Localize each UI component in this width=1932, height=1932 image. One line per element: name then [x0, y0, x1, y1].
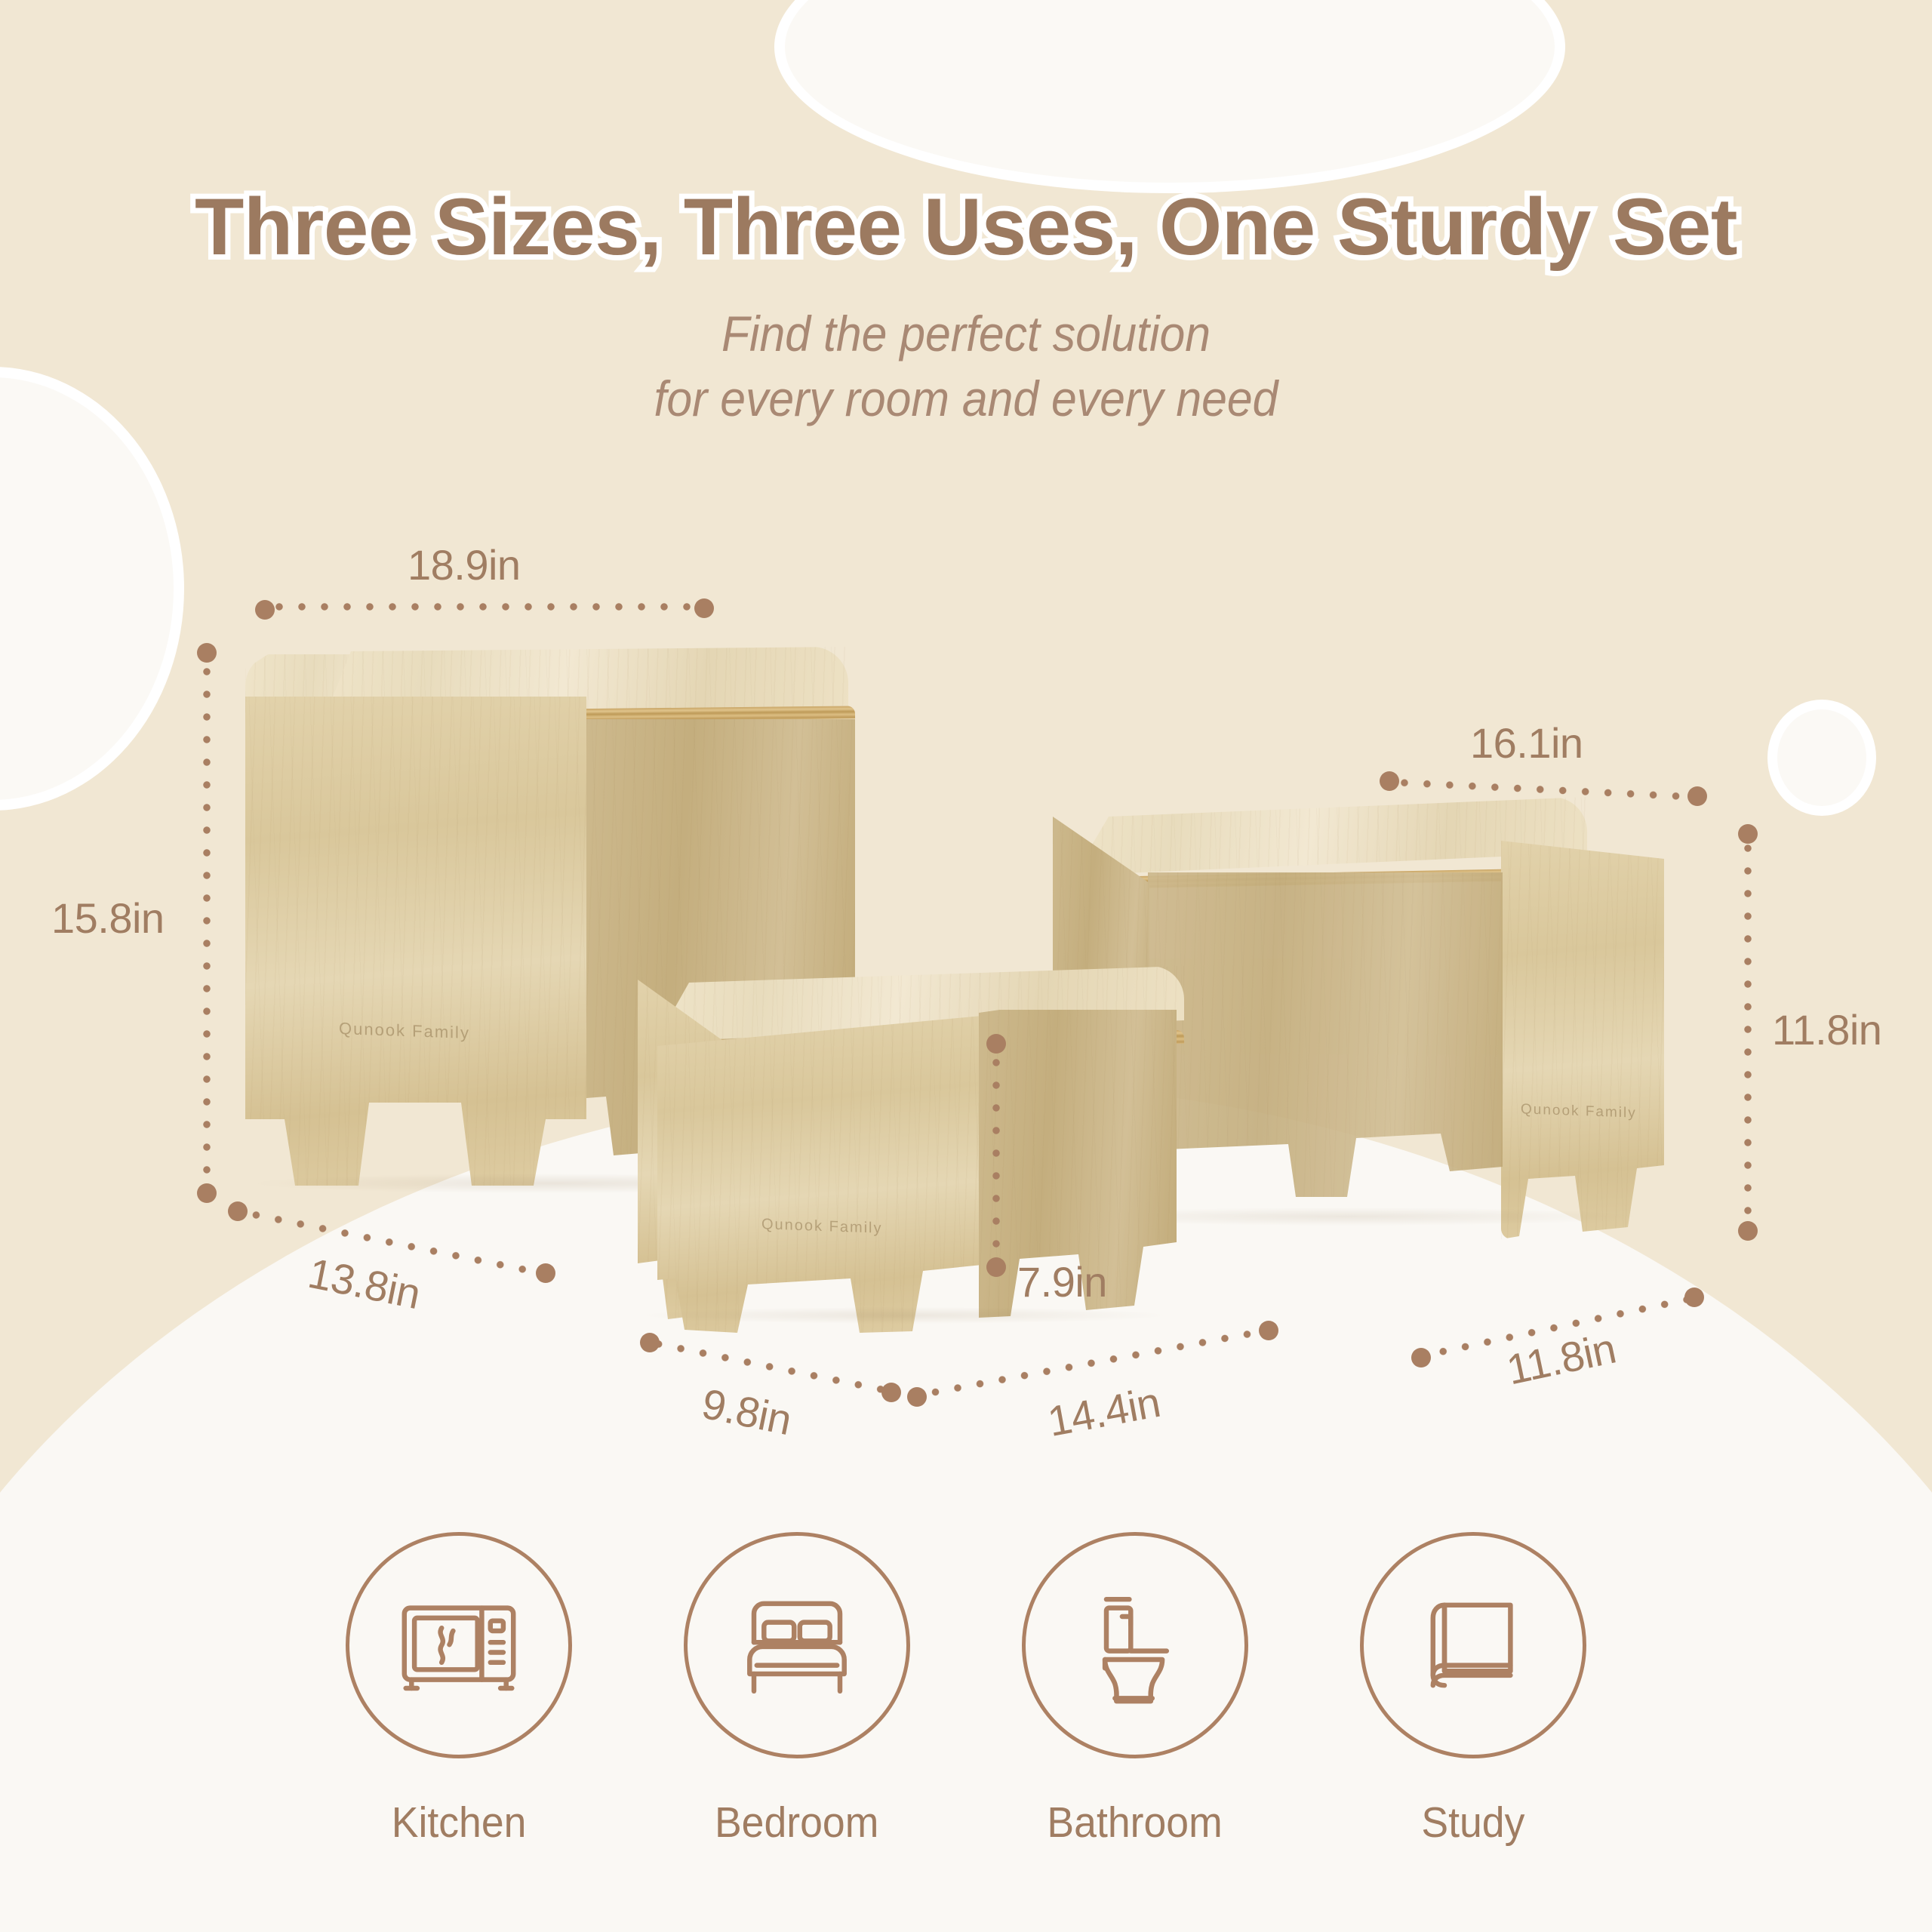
header: Three Sizes, Three Uses, One Sturdy Set …: [0, 0, 1932, 432]
microwave-icon: [387, 1574, 531, 1717]
dimcap-stool-height-start: [986, 1034, 1006, 1054]
brand-engraving: Qunook Family: [1521, 1101, 1637, 1121]
usecase-row: Kitchen Bedroom: [0, 1532, 1932, 1847]
medium-table-right-panel: Qunook Family: [1501, 841, 1664, 1239]
dimcap-medium-width-start: [1380, 771, 1399, 791]
usecase-kitchen-circle: [346, 1532, 572, 1758]
dimcap-large-width-end: [694, 598, 714, 618]
infographic-canvas: Three Sizes, Three Uses, One Sturdy Set …: [0, 0, 1932, 1932]
usecase-bathroom-label: Bathroom: [1048, 1798, 1223, 1847]
usecase-bedroom-circle: [684, 1532, 910, 1758]
dimension-large-height: 15.8in: [51, 894, 165, 943]
dimline-large-height: [201, 649, 213, 1192]
decor-circle-right: [1777, 709, 1866, 806]
small-stool-front-panel: Qunook Family: [657, 1016, 982, 1333]
brand-engraving: Qunook Family: [761, 1216, 883, 1238]
dimline-medium-height: [1742, 830, 1754, 1229]
dimcap-medium-depth-end: [1684, 1287, 1704, 1307]
usecase-bathroom[interactable]: Bathroom: [1022, 1532, 1248, 1847]
dimline-large-width: [260, 601, 706, 613]
dimcap-large-width-start: [255, 600, 275, 620]
dimcap-medium-depth-start: [1411, 1348, 1431, 1367]
usecase-study[interactable]: Study: [1360, 1532, 1586, 1847]
usecase-bedroom-label: Bedroom: [715, 1798, 878, 1847]
bed-icon: [725, 1574, 869, 1717]
dimcap-stool-width-start: [640, 1333, 660, 1352]
book-icon: [1401, 1574, 1545, 1717]
usecase-study-label: Study: [1421, 1798, 1524, 1847]
toilet-icon: [1063, 1574, 1207, 1717]
dimcap-large-depth-end: [536, 1263, 555, 1283]
small-stool-shadow: [644, 1307, 1164, 1324]
usecase-kitchen[interactable]: Kitchen: [346, 1532, 572, 1847]
dimcap-stool-height-end: [986, 1257, 1006, 1277]
product-small-stool: Qunook Family: [638, 966, 1264, 1366]
usecase-bathroom-circle: [1022, 1532, 1248, 1758]
dimcap-large-height-end: [197, 1183, 217, 1203]
usecase-study-circle: [1360, 1532, 1586, 1758]
subtitle-line-1: Find the perfect solution: [77, 302, 1854, 367]
usecase-bedroom[interactable]: Bedroom: [684, 1532, 910, 1847]
page-subtitle: Find the perfect solution for every room…: [77, 302, 1854, 432]
usecase-kitchen-label: Kitchen: [392, 1798, 527, 1847]
dimcap-medium-height-start: [1738, 824, 1758, 844]
dimension-large-width: 18.9in: [408, 540, 521, 589]
brand-engraving: Qunook Family: [339, 1019, 470, 1043]
dimcap-stool-width-end: [881, 1383, 901, 1402]
dimcap-stool-depth-start: [907, 1387, 927, 1407]
dimcap-stool-depth-end: [1259, 1321, 1278, 1340]
dimension-medium-height: 11.8in: [1772, 1005, 1881, 1054]
dimcap-medium-height-end: [1738, 1221, 1758, 1241]
dimcap-large-height-start: [197, 643, 217, 663]
large-table-left-panel: Qunook Family: [245, 697, 586, 1186]
dimension-stool-height: 7.9in: [1017, 1257, 1107, 1306]
dimcap-medium-width-end: [1687, 786, 1707, 806]
subtitle-line-2: for every room and every need: [77, 367, 1854, 432]
decor-circle-left: [0, 377, 174, 800]
dimension-medium-width: 16.1in: [1470, 718, 1583, 768]
dimcap-large-depth-start: [228, 1201, 248, 1221]
dimline-stool-height: [990, 1040, 1002, 1266]
page-title: Three Sizes, Three Uses, One Sturdy Set: [0, 180, 1932, 273]
